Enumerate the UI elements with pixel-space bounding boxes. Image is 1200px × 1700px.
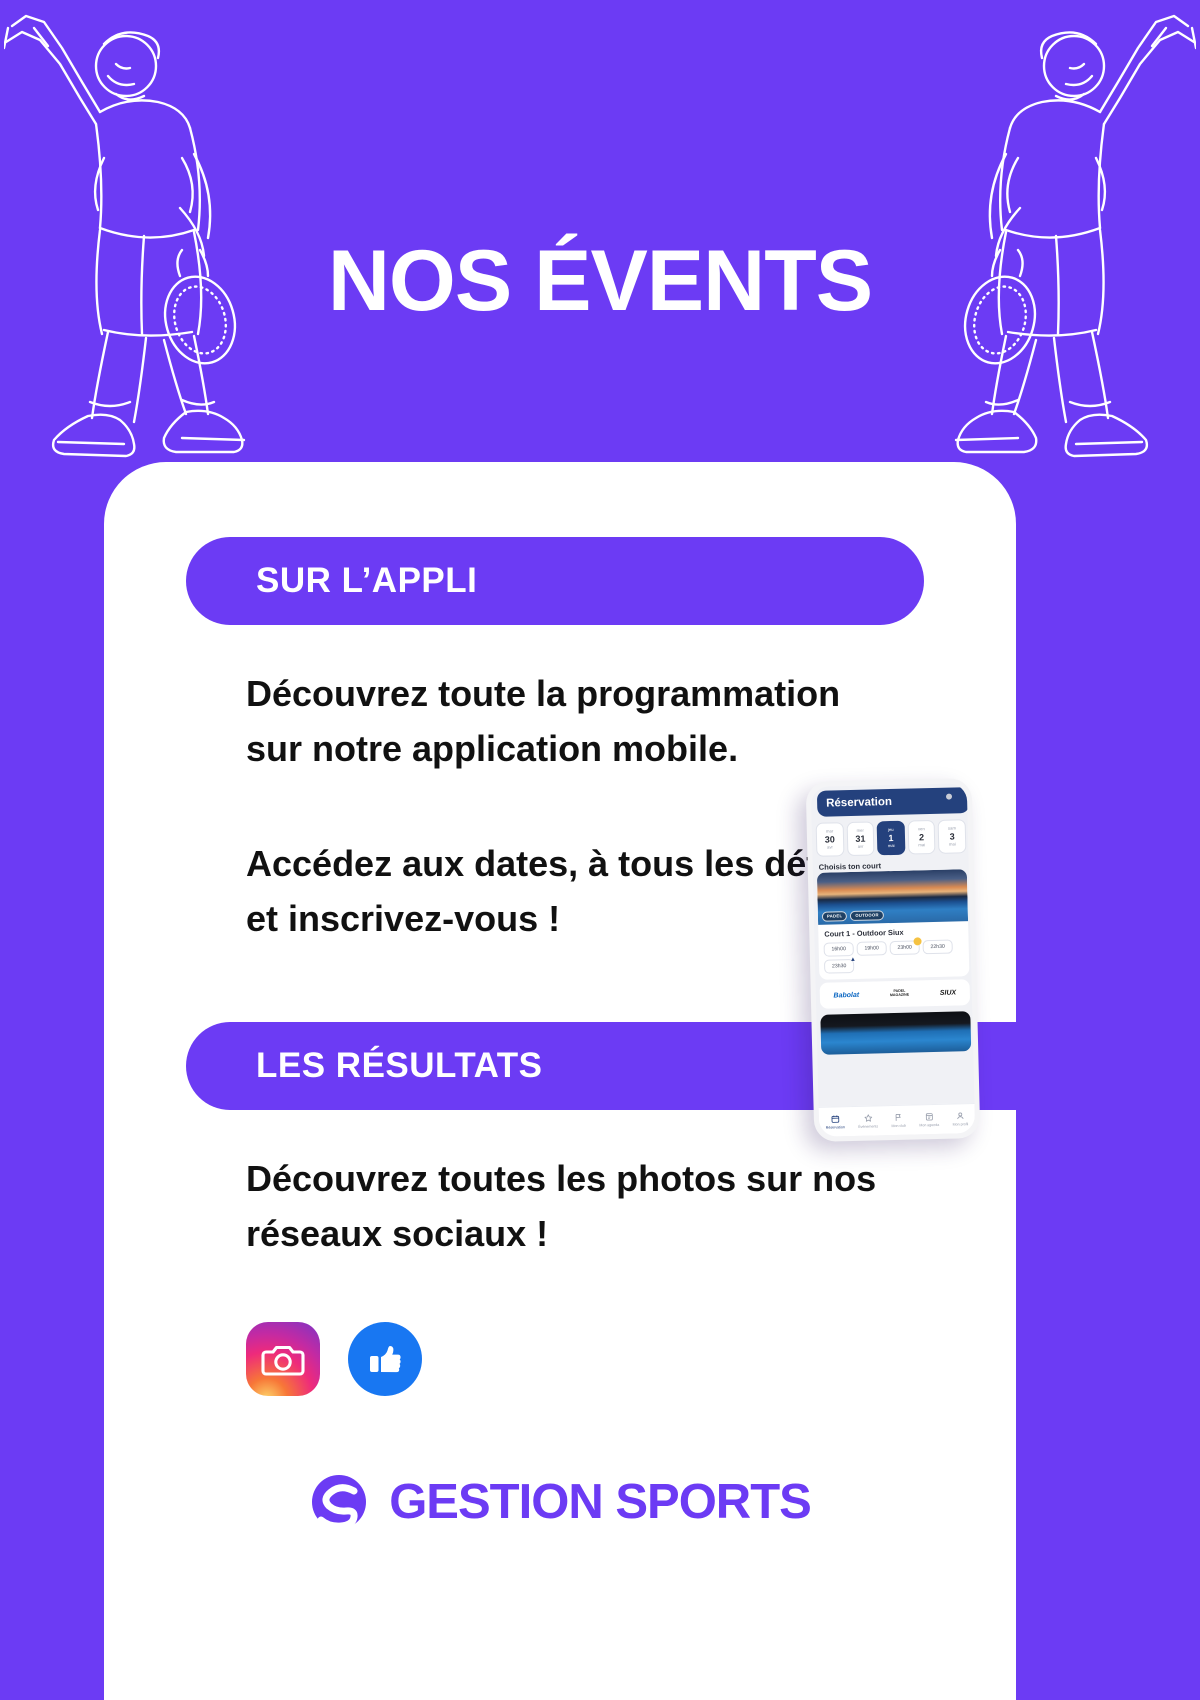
date-num: 3 <box>950 832 955 841</box>
camera-glyph <box>260 1336 306 1382</box>
court-photo: PADEL OUTDOOR <box>817 869 968 925</box>
nav-item-club[interactable]: Mon club <box>891 1113 906 1128</box>
phone-dot-2 <box>955 793 961 799</box>
time-slot[interactable]: 19h00 <box>857 941 887 956</box>
nav-label: Mon club <box>891 1123 906 1127</box>
sponsor-siux: SIUX <box>940 989 957 996</box>
phone-sponsor-bar: Babolat PADEL MAGAZINE SIUX <box>820 979 971 1009</box>
date-num: 30 <box>825 835 835 844</box>
nav-item-agenda[interactable]: Mon agenda <box>919 1112 939 1127</box>
time-slot[interactable]: 22h30 <box>923 940 953 955</box>
phone-date-chip[interactable]: mer 31 avr <box>846 821 874 856</box>
date-num: 2 <box>919 833 924 842</box>
phone-section-title: Choisis ton court <box>819 861 882 872</box>
phone-date-chip[interactable]: ven 2 mai <box>907 820 935 855</box>
date-mon: mai <box>888 843 895 847</box>
flag-icon <box>894 1113 903 1122</box>
star-icon <box>863 1114 872 1123</box>
sponsor-padel-magazine: PADEL MAGAZINE <box>886 990 912 999</box>
time-slot-label: 23h00 <box>897 945 912 951</box>
phone-mockup: Réservation mar 30 avr mer 31 avr jeu <box>806 778 981 1142</box>
date-dow: sam <box>948 827 956 831</box>
app-paragraph-1: Découvrez toute la programmation sur not… <box>246 667 906 776</box>
thumbs-up-glyph <box>363 1337 407 1381</box>
court-tag-padel: PADEL <box>822 911 848 922</box>
time-slot-list: 16h00 19h00 23h00 22h30 23h30 ▲ <box>819 939 970 974</box>
poster-header: NOS ÉVENTS <box>0 0 1200 470</box>
slot-badge-icon <box>913 937 921 945</box>
gestion-sports-logo-icon <box>309 1472 369 1532</box>
time-slot[interactable]: 23h30 ▲ <box>824 959 854 974</box>
phone-dot-1 <box>946 794 952 800</box>
nav-item-profile[interactable]: Mon profil <box>952 1111 968 1126</box>
date-num: 1 <box>888 833 893 842</box>
section-pill-app[interactable]: SUR L’APPLI <box>186 537 924 625</box>
nav-label: Réservation <box>826 1125 845 1129</box>
section-pill-results-label: LES RÉSULTATS <box>256 1046 543 1086</box>
calendar-icon <box>830 1115 839 1124</box>
footer-brand: GESTION SPORTS <box>104 1472 1016 1532</box>
court-tags: PADEL OUTDOOR <box>822 910 884 922</box>
social-links <box>246 1322 422 1396</box>
facebook-icon[interactable] <box>348 1322 422 1396</box>
phone-screen: Réservation mar 30 avr mer 31 avr jeu <box>811 783 976 1137</box>
time-slot-label: 23h30 <box>832 963 847 969</box>
nav-item-reservation[interactable]: Réservation <box>825 1114 845 1129</box>
content-card: SUR L’APPLI Découvrez toute la programma… <box>104 462 1016 1700</box>
nav-label: Mon profil <box>952 1122 968 1126</box>
nav-label: Évènements <box>858 1124 878 1128</box>
date-mon: avr <box>827 845 833 849</box>
sponsor-babolat: Babolat <box>833 991 859 999</box>
time-slot[interactable]: 16h00 <box>824 942 854 957</box>
nav-item-events[interactable]: Évènements <box>858 1114 878 1129</box>
instagram-icon[interactable] <box>246 1322 320 1396</box>
date-num: 31 <box>855 834 865 843</box>
phone-topbar-title: Réservation <box>826 796 892 810</box>
nav-label: Mon agenda <box>919 1123 939 1127</box>
phone-bottom-nav: Réservation Évènements Mon club <box>819 1103 976 1137</box>
page-title: NOS ÉVENTS <box>0 238 1200 324</box>
user-icon <box>956 1112 965 1121</box>
phone-secondary-photo <box>820 1011 971 1055</box>
slot-pin-icon: ▲ <box>850 957 856 963</box>
phone-court-card[interactable]: PADEL OUTDOOR Court 1 - Outdoor Siux 16h… <box>817 869 970 980</box>
section-pill-app-label: SUR L’APPLI <box>256 561 477 601</box>
date-mon: avr <box>858 844 864 848</box>
results-paragraph-1: Découvrez toutes les photos sur nos rése… <box>246 1152 906 1261</box>
date-dow: jeu <box>888 828 894 832</box>
phone-date-chip[interactable]: mar 30 avr <box>816 822 844 857</box>
time-slot[interactable]: 23h00 <box>890 940 920 955</box>
phone-date-chip[interactable]: sam 3 mai <box>938 819 966 854</box>
padel-player-illustration-right <box>896 8 1196 463</box>
padel-player-illustration-left <box>4 8 304 463</box>
date-mon: mai <box>918 843 925 847</box>
phone-topbar: Réservation <box>817 787 970 817</box>
phone-date-chip-selected[interactable]: jeu 1 mai <box>877 821 905 856</box>
court-tag-outdoor: OUTDOOR <box>850 910 884 921</box>
date-mon: mai <box>949 842 956 846</box>
phone-date-selector[interactable]: mar 30 avr mer 31 avr jeu 1 mai ven 2 <box>816 819 967 857</box>
phone-topbar-controls <box>946 793 961 799</box>
footer-brand-text: GESTION SPORTS <box>389 1474 811 1530</box>
agenda-icon <box>924 1112 933 1121</box>
